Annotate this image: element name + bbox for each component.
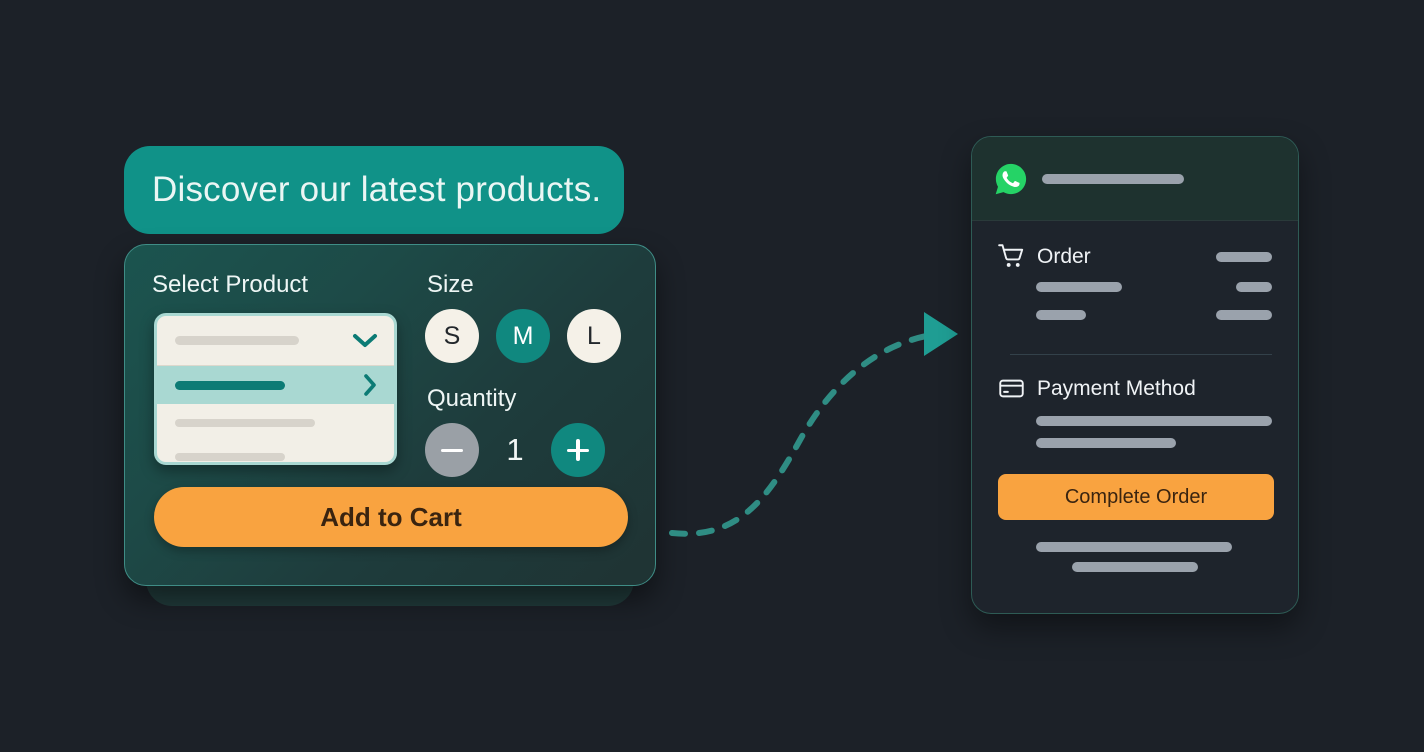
shopping-cart-icon bbox=[998, 243, 1025, 270]
size-label: Size bbox=[427, 271, 474, 299]
size-options: S M L bbox=[425, 309, 621, 363]
complete-order-button[interactable]: Complete Order bbox=[998, 474, 1274, 520]
arrow-right-icon bbox=[924, 312, 958, 356]
headline-bubble: Discover our latest products. bbox=[124, 146, 624, 234]
order-item-placeholder bbox=[1036, 310, 1086, 320]
payment-section-title: Payment Method bbox=[1037, 377, 1196, 401]
quantity-stepper: 1 bbox=[425, 423, 605, 477]
credit-card-icon bbox=[998, 375, 1025, 402]
quantity-decrement-button[interactable] bbox=[425, 423, 479, 477]
product-dropdown[interactable] bbox=[154, 313, 397, 465]
payment-line-items bbox=[998, 416, 1272, 448]
connector-dashed-path bbox=[672, 335, 932, 534]
chevron-right-icon[interactable] bbox=[362, 373, 378, 397]
section-divider bbox=[1010, 354, 1272, 355]
whatsapp-icon bbox=[994, 162, 1028, 196]
dropdown-value-placeholder bbox=[175, 336, 299, 345]
order-amount-placeholder bbox=[1216, 252, 1272, 262]
chevron-down-icon[interactable] bbox=[352, 333, 378, 349]
select-product-label: Select Product bbox=[152, 271, 308, 299]
footer-placeholder bbox=[1036, 542, 1232, 552]
size-option-s[interactable]: S bbox=[425, 309, 479, 363]
product-form-card: Select Product bbox=[124, 244, 656, 586]
contact-name-placeholder bbox=[1042, 174, 1184, 184]
payment-detail-placeholder bbox=[1036, 438, 1176, 448]
order-line-items bbox=[998, 282, 1272, 340]
add-to-cart-button[interactable]: Add to Cart bbox=[154, 487, 628, 547]
size-option-l[interactable]: L bbox=[567, 309, 621, 363]
quantity-label: Quantity bbox=[427, 385, 516, 413]
payment-detail-placeholder bbox=[1036, 416, 1272, 426]
quantity-increment-button[interactable] bbox=[551, 423, 605, 477]
dropdown-option[interactable] bbox=[157, 404, 394, 436]
panel-footer-placeholders bbox=[998, 542, 1272, 572]
dropdown-option-label-placeholder bbox=[175, 453, 285, 461]
order-item-placeholder bbox=[1036, 282, 1122, 292]
chat-order-panel: Order Payment Method bbox=[971, 136, 1299, 614]
headline-text: Discover our latest products. bbox=[152, 170, 601, 210]
chat-panel-header bbox=[972, 137, 1298, 221]
order-section-title: Order bbox=[1037, 245, 1091, 269]
dropdown-option-label-placeholder bbox=[175, 419, 315, 427]
flow-connector-arrow bbox=[650, 290, 970, 570]
order-amount-placeholder bbox=[1216, 310, 1272, 320]
dropdown-option-label-placeholder bbox=[175, 381, 285, 390]
size-option-m[interactable]: M bbox=[496, 309, 550, 363]
screenshot-stage: Discover our latest products. Select Pro… bbox=[0, 0, 1424, 752]
plus-icon bbox=[567, 439, 589, 461]
dropdown-option-selected[interactable] bbox=[157, 366, 394, 404]
quantity-value: 1 bbox=[479, 432, 551, 468]
minus-icon bbox=[441, 439, 463, 461]
payment-section-header: Payment Method bbox=[998, 375, 1272, 402]
dropdown-option[interactable] bbox=[157, 436, 394, 465]
footer-placeholder bbox=[1072, 562, 1198, 572]
dropdown-trigger[interactable] bbox=[157, 316, 394, 366]
order-amount-placeholder bbox=[1236, 282, 1272, 292]
chat-panel-body: Order Payment Method bbox=[972, 221, 1298, 572]
